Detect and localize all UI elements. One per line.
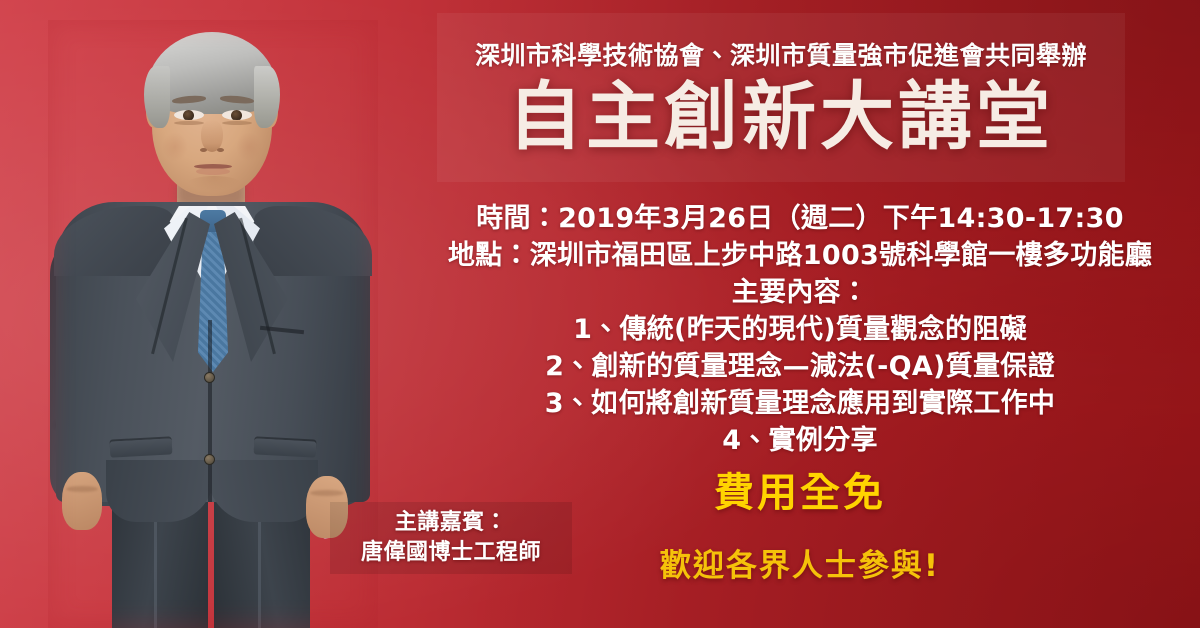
speaker-portrait-photo [48, 20, 378, 628]
speaker-name: 唐偉國博士工程師 [330, 538, 572, 568]
content-item: 2、創新的質量理念—減法(-QA)質量保證 [420, 348, 1180, 385]
speaker-credit-block: 主講嘉賓： 唐偉國博士工程師 [330, 508, 572, 568]
event-details-block: 時間：2019年3月26日（週二）下午14:30-17:30 地點：深圳市福田區… [420, 200, 1180, 459]
portrait-nostril-right [217, 148, 224, 152]
portrait-cheek-left [162, 132, 188, 162]
portrait-eye-right [222, 110, 252, 120]
event-poster: 深圳市科學技術協會、深圳市質量強市促進會共同舉辦 自主創新大講堂 時間：2019… [0, 0, 1200, 628]
portrait-knuckle-line [66, 486, 98, 492]
portrait-knuckle-line [310, 490, 344, 496]
fee-free-notice: 費用全免 [560, 460, 1040, 518]
portrait-nostril-left [200, 148, 207, 152]
content-item: 3、如何將創新質量理念應用到實際工作中 [420, 385, 1180, 422]
portrait-chin-shadow [186, 176, 242, 192]
portrait-eye-left [174, 110, 204, 120]
portrait-jacket-button [204, 454, 215, 465]
portrait-iris [183, 110, 194, 120]
page-title: 自主創新大講堂 [437, 78, 1125, 158]
welcome-notice: 歡迎各界人士參與! [560, 540, 1040, 585]
portrait-jacket-pocket-right [254, 438, 317, 457]
portrait-left-hand [62, 472, 102, 530]
portrait-trouser-crease [258, 506, 261, 628]
organizer-line: 深圳市科學技術協會、深圳市質量強市促進會共同舉辦 [437, 36, 1125, 72]
portrait-right-shoulder [254, 206, 372, 276]
content-heading: 主要內容： [420, 274, 1180, 311]
portrait-jacket-button [204, 372, 215, 383]
portrait-trouser-crease [154, 506, 157, 628]
portrait-hair-side-left [144, 66, 170, 128]
content-item: 4、實例分享 [420, 422, 1180, 459]
portrait-jacket-opening [208, 320, 212, 502]
portrait-under-eye [174, 121, 204, 125]
portrait-jacket-pocket-left [110, 438, 173, 457]
content-item: 1、傳統(昨天的現代)質量觀念的阻礙 [420, 311, 1180, 348]
portrait-iris [231, 110, 242, 120]
event-time-line: 時間：2019年3月26日（週二）下午14:30-17:30 [420, 200, 1180, 237]
portrait-left-shoulder [54, 206, 174, 276]
portrait-lower-lip [196, 168, 230, 175]
event-location-line: 地點：深圳市福田區上步中路1003號科學館一樓多功能廳 [420, 237, 1180, 274]
speaker-label: 主講嘉賓： [330, 508, 572, 538]
portrait-cheek-right [236, 132, 262, 162]
portrait-under-eye [222, 121, 252, 125]
